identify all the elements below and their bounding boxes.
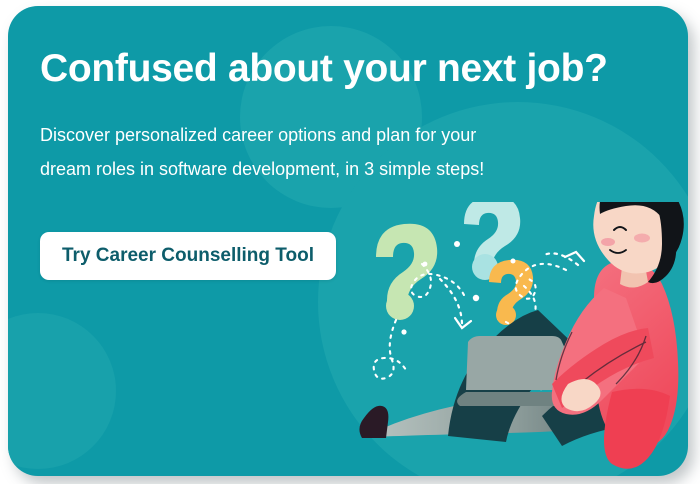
- sparkle-dot: [401, 329, 406, 334]
- promo-description-line-1: Discover personalized career options and…: [40, 125, 476, 145]
- promo-content: Confused about your next job? Discover p…: [40, 6, 400, 476]
- blush: [634, 234, 650, 243]
- promo-description: Discover personalized career options and…: [40, 118, 550, 186]
- sparkle-dot: [454, 241, 460, 247]
- page-title: Confused about your next job?: [40, 47, 600, 91]
- sparkle-dot: [511, 259, 516, 264]
- screenshot-stage: Confused about your next job? Discover p…: [0, 0, 700, 484]
- try-career-counselling-tool-button[interactable]: Try Career Counselling Tool: [40, 232, 336, 280]
- sparkle-dot: [473, 295, 479, 301]
- promo-description-line-2: dream roles in software development, in …: [40, 159, 484, 179]
- blush: [601, 238, 615, 246]
- promo-card: Confused about your next job? Discover p…: [8, 6, 688, 476]
- person-with-laptop-illustration: [356, 202, 688, 476]
